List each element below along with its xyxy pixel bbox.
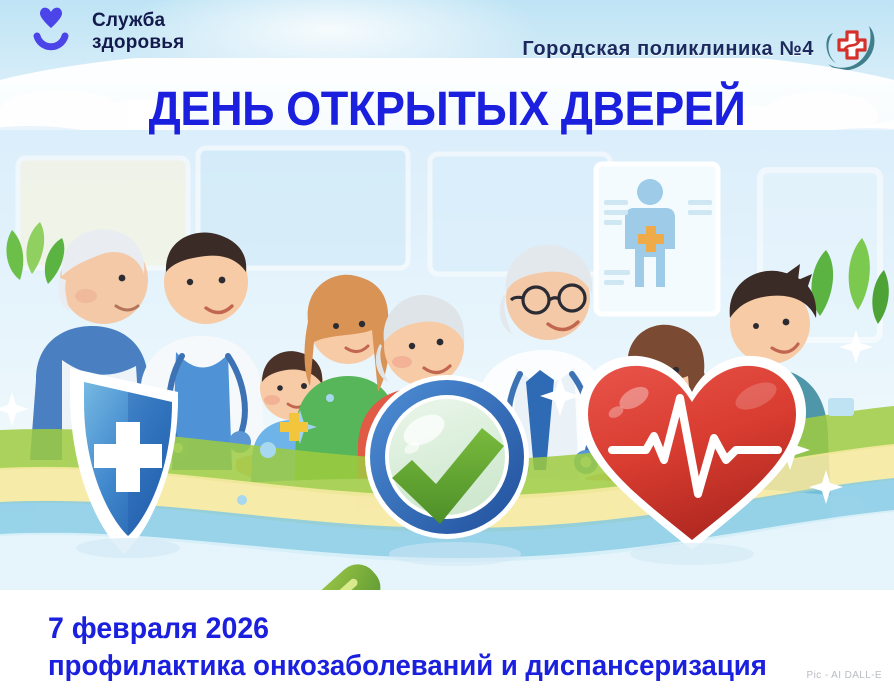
poster: Служба здоровья Городская поликлиника №4 — [0, 0, 894, 695]
page-title: ДЕНЬ ОТКРЫТЫХ ДВЕРЕЙ — [27, 82, 867, 137]
illustration — [0, 130, 894, 590]
event-date: 7 февраля 2026 — [48, 612, 269, 646]
anatomy-poster — [596, 164, 718, 314]
brand-block: Служба здоровья — [22, 6, 184, 58]
image-credit-watermark: Pic - AI DALL-E — [807, 670, 882, 681]
heart-smile-icon — [22, 6, 80, 58]
event-subtitle: профилактика онкозаболеваний и диспансер… — [48, 650, 767, 683]
brand-name: Служба здоровья — [92, 10, 184, 54]
